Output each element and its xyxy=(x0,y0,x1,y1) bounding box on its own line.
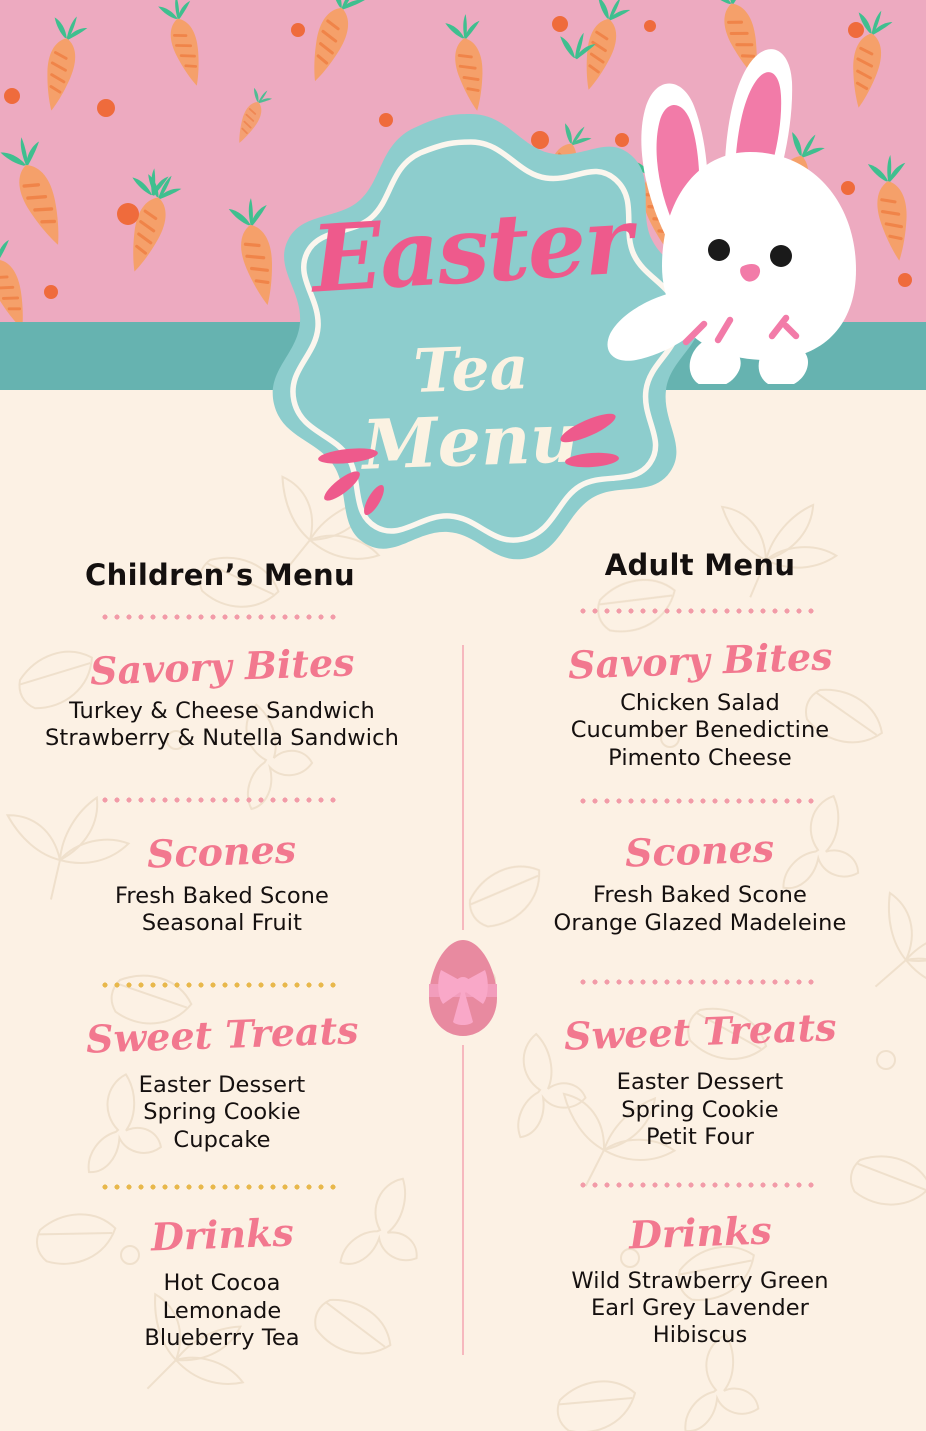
menu-item: Cupcake xyxy=(22,1127,422,1154)
menu-item: Spring Cookie xyxy=(22,1099,422,1126)
easter-egg-divider xyxy=(427,938,499,1038)
center-divider-line-bottom xyxy=(462,1045,464,1355)
section-title: Sweet Treats xyxy=(563,1008,837,1055)
children-menu-column: Savory Bites Turkey & Cheese Sandwich St… xyxy=(22,614,422,1352)
center-divider-line-top xyxy=(462,645,464,930)
menu-item: Chicken Salad xyxy=(500,690,900,717)
section-title: Scones xyxy=(147,830,297,873)
menu-item: Spring Cookie xyxy=(500,1097,900,1124)
bunny-illustration xyxy=(600,34,890,384)
menu-item: Lemonade xyxy=(22,1298,422,1325)
menu-item: Orange Glazed Madeleine xyxy=(500,910,900,937)
menu-section: Sweet Treats Easter Dessert Spring Cooki… xyxy=(22,988,422,1154)
menu-item: Easter Dessert xyxy=(22,1072,422,1099)
menu-section: Scones Fresh Baked Scone Seasonal Fruit xyxy=(22,803,422,938)
menu-item: Seasonal Fruit xyxy=(22,910,422,937)
menu-item: Fresh Baked Scone xyxy=(22,883,422,910)
menu-item: Wild Strawberry Green xyxy=(500,1268,900,1295)
menu-section: Scones Fresh Baked Scone Orange Glazed M… xyxy=(500,804,900,937)
easter-tea-menu-poster: Easter Tea Menu xyxy=(0,0,926,1431)
menu-item: Strawberry & Nutella Sandwich xyxy=(22,725,422,752)
section-title: Savory Bites xyxy=(567,637,833,684)
menu-item: Petit Four xyxy=(500,1124,900,1151)
section-title: Scones xyxy=(625,830,775,873)
menu-item: Pimento Cheese xyxy=(500,745,900,772)
children-menu-heading: Children’s Menu xyxy=(40,558,400,592)
menu-item: Hot Cocoa xyxy=(22,1270,422,1297)
section-title: Drinks xyxy=(150,1214,294,1257)
section-title: Drinks xyxy=(628,1211,772,1254)
menu-section: Savory Bites Turkey & Cheese Sandwich St… xyxy=(22,620,422,753)
menu-section: Drinks Wild Strawberry Green Earl Grey L… xyxy=(500,1188,900,1350)
section-title: Savory Bites xyxy=(89,643,355,690)
menu-item: Blueberry Tea xyxy=(22,1325,422,1352)
menu-section: Sweet Treats Easter Dessert Spring Cooki… xyxy=(500,985,900,1151)
section-title: Sweet Treats xyxy=(85,1011,359,1058)
menu-item: Earl Grey Lavender xyxy=(500,1295,900,1322)
menu-item: Cucumber Benedictine xyxy=(500,717,900,744)
menu-item: Hibiscus xyxy=(500,1322,900,1349)
menu-section: Savory Bites Chicken Salad Cucumber Bene… xyxy=(500,614,900,772)
menu-item: Easter Dessert xyxy=(500,1069,900,1096)
adult-menu-heading: Adult Menu xyxy=(520,548,880,582)
menu-section: Drinks Hot Cocoa Lemonade Blueberry Tea xyxy=(22,1190,422,1352)
adult-menu-column: Savory Bites Chicken Salad Cucumber Bene… xyxy=(500,608,900,1350)
menu-item: Fresh Baked Scone xyxy=(500,882,900,909)
menu-item: Turkey & Cheese Sandwich xyxy=(22,698,422,725)
